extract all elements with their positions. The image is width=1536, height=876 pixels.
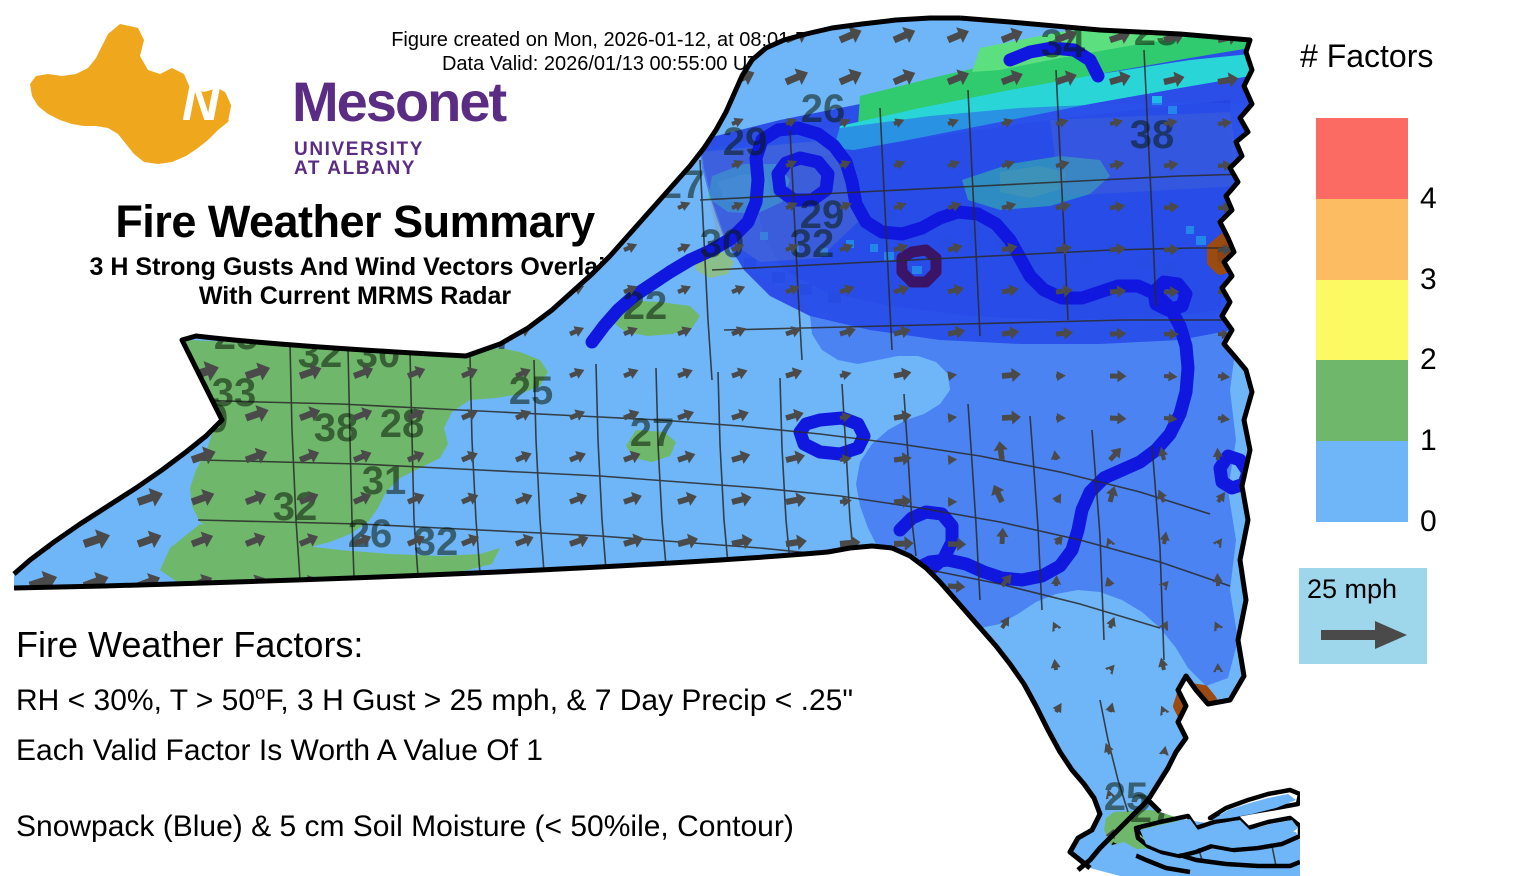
wind-arrow [513,572,537,593]
footer-heading: Fire Weather Factors: [16,622,916,667]
gust-label: 26 [348,512,393,556]
wind-arrow [1268,660,1281,673]
wind-arrow [297,317,326,342]
wind-arrow [1265,484,1281,503]
wind-arrow [405,320,428,341]
wind-arrow [947,707,962,719]
footer-value-line: Each Valid Factor Is Worth A Value Of 1 [16,731,916,771]
wind-arrow [189,272,226,304]
wind-arrow [26,352,68,388]
wind-arrow [243,187,280,219]
wind-arrow [297,275,328,301]
wind-arrow [675,64,705,91]
wind-arrow [297,21,330,49]
wind-arrow [134,184,176,221]
wind-arrow [79,60,115,92]
colorbar [1316,118,1408,522]
wind-arrow [243,63,276,92]
colorbar-tick-2: 2 [1420,345,1437,375]
colorbar-band-1 [1316,360,1408,441]
wind-arrow [296,103,333,135]
wind-arrow [26,395,67,430]
wind-arrow [1047,826,1061,840]
wind-arrow [188,229,227,262]
wind-arrow [1272,245,1285,256]
wind-arrow [1264,534,1277,546]
wind-arrow [947,749,960,761]
wind-arrow [134,141,177,179]
wind-key-arrow-icon [1319,618,1411,652]
wind-arrow [79,140,124,180]
wind-arrow [993,700,1007,714]
wind-arrow [621,23,651,49]
wind-arrow [25,58,62,91]
wind-arrow [947,664,963,677]
wind-arrow [459,23,490,50]
gust-label: 27 [660,163,705,207]
wind-arrow [997,745,1008,755]
wind-arrow [351,148,384,176]
wind-arrow [947,622,964,636]
colorbar-band-4 [1316,118,1408,199]
wind-arrow [676,573,701,594]
wind-arrow [24,138,70,179]
footer-overlay-line: Snowpack (Blue) & 5 cm Soil Moisture (< … [16,807,916,847]
wind-arrow [405,149,435,175]
wind-arrow [188,20,222,50]
wind-arrow [514,195,536,214]
wind-arrow [297,189,331,218]
gust-label: 27 [630,411,675,455]
wind-arrow [80,311,121,346]
wind-arrow [243,230,279,261]
footer-factors-post: F, 3 H Gust > 25 mph, & 7 Day Precip < .… [265,684,853,717]
wind-arrow [567,23,597,49]
gust-label: 26 [801,87,846,131]
fire-weather-factors-block: Fire Weather Factors: RH < 30%, T > 50oF… [16,622,916,857]
gust-label: 38 [314,406,359,450]
wind-arrow [134,18,169,50]
wind-arrow [513,110,538,132]
wind-arrow [1267,442,1288,464]
wind-arrow [351,319,377,342]
wind-arrow [26,438,65,472]
wind-arrow [80,354,120,388]
wind-arrow [513,23,544,50]
wind-arrow [81,440,117,471]
wind-arrow [622,155,640,171]
degree-symbol: o [255,682,265,703]
wind-arrow [26,481,63,513]
wind-arrow [676,114,693,129]
gust-label: 32 [790,222,835,266]
wind-arrow [1272,160,1286,171]
wind-vector-key: 25 mph [1299,568,1427,664]
gust-label: 25 [214,314,259,358]
wind-arrow [188,143,229,179]
wind-arrow [80,397,118,430]
wind-arrow [459,194,484,216]
colorbar-labels: 43210 [1420,118,1470,522]
wind-arrow [242,21,276,50]
wind-arrow [24,95,70,136]
wind-arrow [622,112,641,129]
wind-key-label: 25 mph [1307,574,1397,605]
wind-arrow [1271,329,1283,340]
wind-arrow [459,64,490,91]
wind-arrow [568,572,592,593]
wind-arrow [135,441,168,469]
wind-arrow [1262,741,1276,757]
wind-arrow [24,16,61,50]
wind-arrow [134,61,169,92]
wind-arrow [135,399,170,429]
colorbar-band-3 [1316,199,1408,280]
colorbar-tick-4: 4 [1420,184,1437,214]
wind-arrow [26,267,71,306]
wind-arrow [405,22,437,49]
wind-arrow [785,576,808,594]
wind-arrow [947,791,959,803]
wind-arrow [79,182,124,221]
colorbar-tick-0: 0 [1420,507,1437,537]
gust-label: 32 [273,485,318,529]
wind-arrow [622,573,647,594]
wind-arrow [1268,615,1283,631]
wind-arrow [513,152,536,173]
gust-label: 38 [1130,113,1175,157]
wind-arrow [459,108,487,133]
wind-arrow [79,97,124,137]
wind-arrow [1271,369,1290,384]
wind-arrow [460,321,481,340]
wind-arrow [513,64,544,91]
colorbar-band-0 [1316,441,1408,522]
wind-arrow [997,787,1010,800]
wind-arrow [135,356,171,387]
wind-arrow [731,574,755,594]
wind-arrow [622,197,640,213]
wind-arrow [351,276,379,300]
wind-arrow [297,232,329,260]
wind-arrow [1272,118,1287,129]
wind-arrow [568,239,587,256]
wind-arrow [459,151,486,174]
wind-arrow [405,106,436,133]
wind-arrow [188,62,222,92]
wind-arrow [297,146,333,177]
wind-arrow [459,236,482,257]
wind-arrow [351,233,380,258]
wind-arrow [351,22,383,50]
gust-label: 28 [380,402,425,446]
wind-arrow [25,224,71,264]
wind-arrow [514,238,535,256]
wind-arrow [242,102,282,136]
wind-arrow [79,17,115,50]
gust-label: 25 [509,369,554,413]
wind-arrow [1271,72,1293,90]
colorbar-title: # Factors [1300,38,1433,75]
wind-arrow [1266,578,1278,589]
wind-arrow [1051,784,1062,796]
wind-arrow [133,98,177,136]
wind-arrow [297,64,330,92]
wind-arrow [351,105,386,135]
wind-arrow [26,310,70,348]
wind-arrow [188,186,228,220]
wind-arrow [947,833,958,844]
wind-arrow [188,100,230,137]
wind-arrow [80,268,123,305]
wind-arrow [351,191,382,218]
wind-arrow [134,227,175,263]
wind-arrow [405,192,433,216]
wind-arrow [1213,745,1226,758]
wind-arrow [840,577,861,593]
wind-arrow [568,154,589,172]
footer-spacer [16,781,916,807]
wind-arrow [568,196,588,213]
wind-arrow [675,22,705,48]
wind-arrow [134,270,174,304]
wind-arrow [568,111,590,130]
wind-arrow [514,280,534,298]
footer-factors-line: RH < 30%, T > 50oF, 3 H Gust > 25 mph, &… [16,681,916,721]
wind-arrow [1271,29,1293,47]
wind-arrow [25,181,71,222]
wind-arrow [405,278,430,300]
wind-arrow [997,829,1010,842]
footer-factors-pre: RH < 30%, T > 50 [16,684,255,717]
wind-arrow [459,279,481,299]
wind-arrow [729,22,758,48]
wind-arrow [242,145,281,178]
wind-arrow [243,273,277,302]
wind-arrow [1271,411,1290,427]
wind-arrow [405,235,431,258]
wind-arrow [1272,203,1286,213]
wind-arrow [1160,783,1176,799]
wind-arrow [621,64,651,91]
wind-arrow [567,64,598,91]
colorbar-tick-3: 3 [1420,265,1437,295]
wind-arrow [1213,789,1224,799]
gust-label: 29 [723,120,768,164]
wind-arrow [80,225,124,263]
gust-label: 25 [1104,775,1149,819]
wind-arrow [1267,704,1278,714]
wind-arrow [351,64,383,92]
wind-arrow [1272,287,1285,298]
colorbar-tick-1: 1 [1420,426,1437,456]
wind-arrow [134,313,172,346]
colorbar-band-2 [1316,280,1408,361]
wind-arrow [894,579,913,594]
wind-arrow [405,64,437,91]
